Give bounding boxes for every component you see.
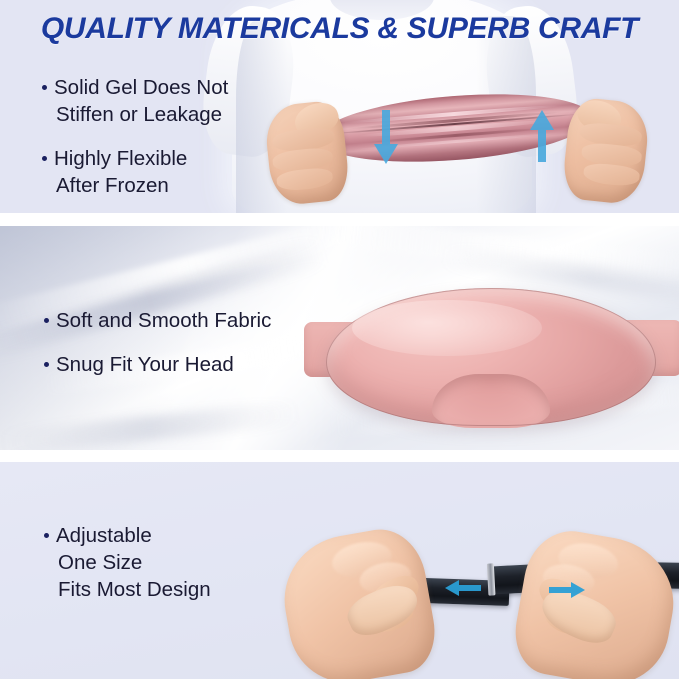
feature-bullet: Snug Fit Your Head — [44, 351, 271, 378]
flex-arrow-up-icon — [527, 108, 557, 169]
panel-divider — [0, 213, 679, 226]
feature-bullet-line: Soft and Smooth Fabric — [44, 307, 271, 334]
strap-arrow-right-icon — [547, 580, 587, 605]
bullet-dot-icon — [42, 156, 47, 161]
feature-bullet-text: Adjustable — [56, 524, 152, 547]
feature-bullet-text: After Frozen — [56, 174, 169, 197]
feature-list-panel-2: Soft and Smooth FabricSnug Fit Your Head — [44, 307, 271, 378]
feature-bullet: Solid Gel Does NotStiffen or Leakage — [42, 74, 228, 128]
header-band: QUALITY MATERICALS & SUPERB CRAFT — [0, 0, 679, 58]
feature-list-panel-1: Solid Gel Does NotStiffen or LeakageHigh… — [42, 74, 228, 199]
feature-bullet-text: Snug Fit Your Head — [56, 353, 234, 376]
product-infographic: QUALITY MATERICALS & SUPERB CRAFT Solid … — [0, 0, 679, 679]
bullet-dot-icon — [44, 318, 49, 323]
feature-bullet: Soft and Smooth Fabric — [44, 307, 271, 334]
feature-bullet-line: Stiffen or Leakage — [42, 101, 228, 128]
feature-bullet-text: Highly Flexible — [54, 147, 187, 170]
bullet-dot-icon — [44, 362, 49, 367]
feature-bullet-line: Snug Fit Your Head — [44, 351, 271, 378]
feature-list-panel-3: AdjustableOne SizeFits Most Design — [44, 522, 211, 603]
feature-bullet-text: Solid Gel Does Not — [54, 76, 228, 99]
flex-arrow-down-icon — [371, 110, 401, 171]
feature-bullet-line: One Size — [44, 549, 211, 576]
feature-bullet-text: One Size — [58, 551, 142, 574]
feature-bullet: AdjustableOne SizeFits Most Design — [44, 522, 211, 603]
strap-arrow-left-icon — [443, 578, 483, 603]
feature-bullet: Highly FlexibleAfter Frozen — [42, 145, 228, 199]
feature-bullet-line: Highly Flexible — [42, 145, 228, 172]
feature-bullet-line: After Frozen — [42, 172, 228, 199]
feature-bullet-text: Soft and Smooth Fabric — [56, 309, 271, 332]
pink-silk-sleep-mask — [300, 282, 679, 432]
feature-bullet-line: Solid Gel Does Not — [42, 74, 228, 101]
bullet-dot-icon — [42, 85, 47, 90]
feature-bullet-line: Adjustable — [44, 522, 211, 549]
feature-bullet-line: Fits Most Design — [44, 576, 211, 603]
page-title: QUALITY MATERICALS & SUPERB CRAFT — [0, 12, 679, 46]
finger — [583, 162, 641, 188]
bullet-dot-icon — [44, 533, 49, 538]
hand-right-holding-mask — [561, 96, 651, 206]
feature-bullet-text: Fits Most Design — [58, 578, 211, 601]
mask-silk-sheen — [352, 300, 542, 356]
panel-divider — [0, 450, 679, 462]
feature-bullet-text: Stiffen or Leakage — [56, 103, 222, 126]
